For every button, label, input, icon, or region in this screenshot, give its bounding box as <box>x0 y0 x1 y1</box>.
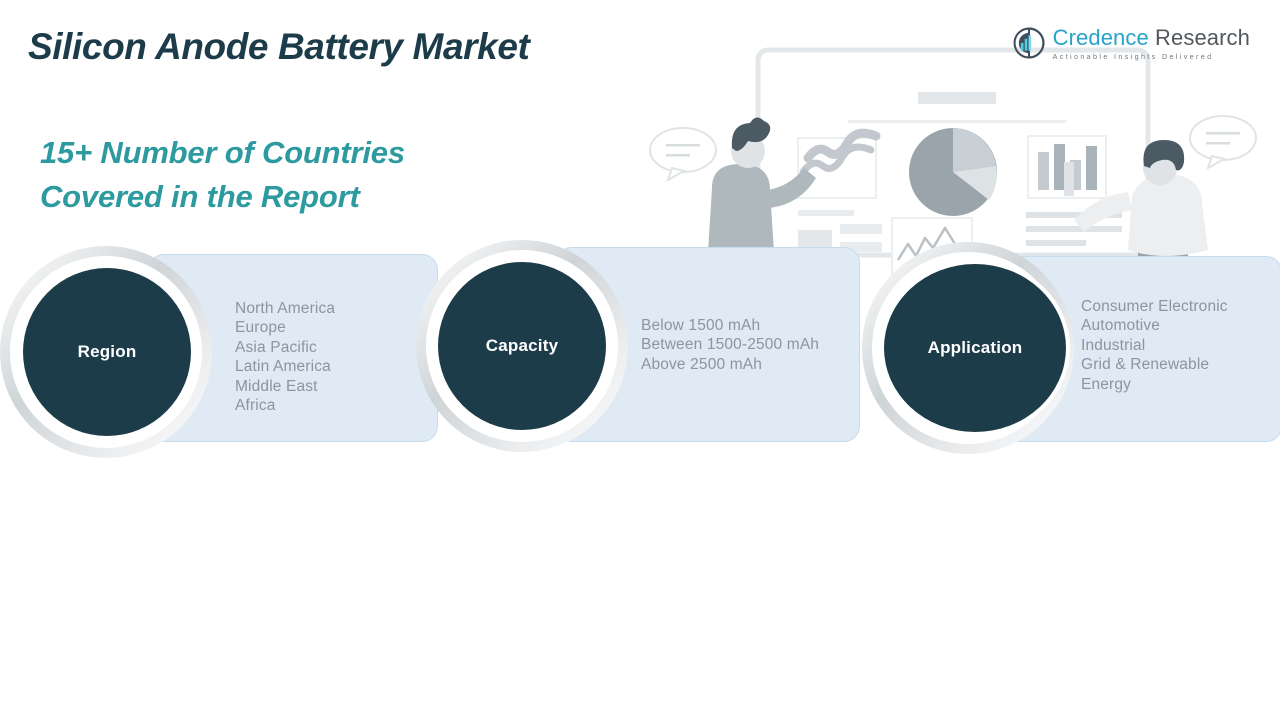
list-item: Between 1500-2500 mAh <box>641 335 819 354</box>
list-item: Grid & Renewable <box>1081 355 1228 374</box>
segment-label-region: Region <box>78 342 137 362</box>
segment-groups: North America Europe Asia Pacific Latin … <box>0 240 1280 460</box>
segment-group-capacity: Below 1500 mAh Between 1500-2500 mAh Abo… <box>412 240 862 460</box>
list-item: Energy <box>1081 375 1228 394</box>
list-item: Middle East <box>235 377 335 396</box>
logo-word-research: Research <box>1155 25 1250 50</box>
bar-chart-card <box>1028 136 1106 198</box>
line-chart-line <box>803 147 871 172</box>
logo-tagline: Actionable Insights Delivered <box>1053 53 1250 60</box>
subtitle-line-2: Covered in the Report <box>40 175 405 219</box>
segment-circle-capacity[interactable]: Capacity <box>438 262 606 430</box>
segment-items-region: North America Europe Asia Pacific Latin … <box>235 299 335 415</box>
list-item: North America <box>235 299 335 318</box>
line-chart-card <box>798 138 876 198</box>
board-divider <box>848 120 1066 123</box>
text-line <box>1026 212 1122 218</box>
segment-items-capacity: Below 1500 mAh Between 1500-2500 mAh Abo… <box>641 316 819 374</box>
board-title-bar <box>918 92 996 104</box>
list-item: Automotive <box>1081 316 1228 335</box>
logo-wordmark: Credence Research <box>1053 27 1250 49</box>
text-line <box>798 210 854 216</box>
subtitle-line-1: 15+ Number of Countries <box>40 135 405 170</box>
segment-circle-region[interactable]: Region <box>23 268 191 436</box>
list-item: Africa <box>235 396 335 415</box>
text-line <box>1026 226 1122 232</box>
list-item: Europe <box>235 318 335 337</box>
segment-items-application: Consumer Electronic Automotive Industria… <box>1081 297 1228 394</box>
bar-chart-bars <box>1038 144 1097 190</box>
logo-word-credence: Credence <box>1053 25 1149 50</box>
infographic-slide: Silicon Anode Battery Market 15+ Number … <box>0 0 1280 720</box>
subtitle: 15+ Number of Countries Covered in the R… <box>40 131 405 219</box>
segment-group-region: North America Europe Asia Pacific Latin … <box>0 240 440 460</box>
segment-label-capacity: Capacity <box>486 336 558 356</box>
list-item: Below 1500 mAh <box>641 316 819 335</box>
segment-circle-application[interactable]: Application <box>884 264 1066 432</box>
credence-research-logo[interactable]: Credence Research Actionable Insights De… <box>1012 26 1250 60</box>
page-title: Silicon Anode Battery Market <box>28 26 529 68</box>
credence-bar-chart-circle-icon <box>1012 26 1046 60</box>
segment-label-application: Application <box>928 338 1023 358</box>
whiteboard-frame <box>758 50 1148 255</box>
speech-bubble-right <box>1190 116 1256 168</box>
list-item: Industrial <box>1081 336 1228 355</box>
list-item: Asia Pacific <box>235 338 335 357</box>
list-item: Above 2500 mAh <box>641 355 819 374</box>
segment-group-application: Consumer Electronic Automotive Industria… <box>862 240 1280 460</box>
pie-chart <box>909 128 997 216</box>
list-item: Consumer Electronic <box>1081 297 1228 316</box>
text-line <box>840 224 882 234</box>
list-item: Latin America <box>235 357 335 376</box>
speech-bubble-left <box>650 128 716 180</box>
